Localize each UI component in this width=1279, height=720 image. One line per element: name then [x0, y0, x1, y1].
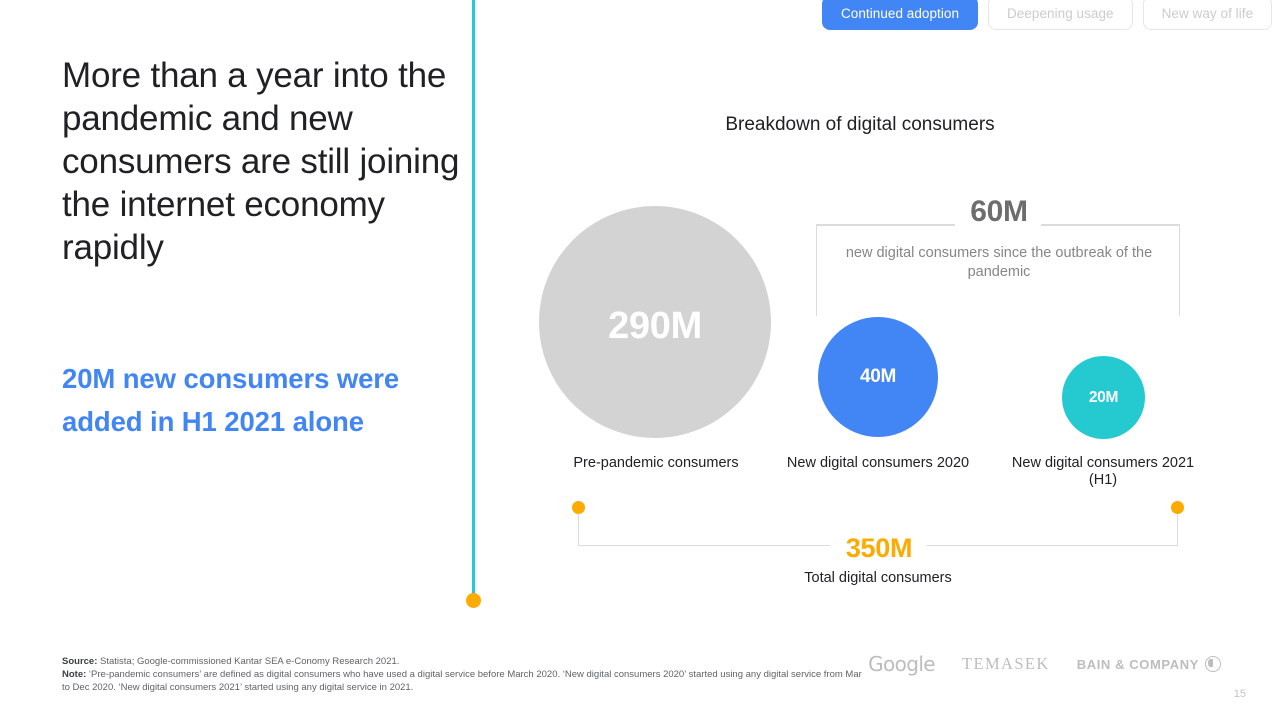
- bracket-350m-value: 350M: [579, 533, 1179, 564]
- bain-mark-icon: [1205, 656, 1221, 672]
- chart-title: Breakdown of digital consumers: [540, 114, 1180, 136]
- tab-continued-adoption[interactable]: Continued adoption: [822, 0, 978, 30]
- bracket-350m-dot-left-icon: [572, 501, 585, 514]
- bubble-pre-pandemic-value: 290M: [608, 305, 702, 348]
- footnote-note-text: ‘Pre-pandemic consumers’ are defined as …: [62, 669, 862, 693]
- bracket-350m-dot-right-icon: [1171, 501, 1184, 514]
- divider-dot-icon: [466, 593, 481, 608]
- page-number: 15: [1234, 688, 1246, 700]
- footnote-note-label: Note:: [62, 669, 86, 680]
- bubble-new-2020: 40M: [818, 317, 938, 437]
- temasek-logo: TEMASEK: [962, 654, 1050, 674]
- bubble-pre-pandemic: 290M: [539, 206, 771, 438]
- bain-logo: BAIN & COMPANY: [1077, 656, 1221, 672]
- bain-logo-text: BAIN & COMPANY: [1077, 657, 1199, 672]
- bracket-60m: 60M new digital consumers since the outb…: [816, 224, 1180, 316]
- tab-deepening-usage[interactable]: Deepening usage: [988, 0, 1133, 30]
- vertical-divider: [472, 0, 475, 595]
- slide: Continued adoption Deepening usage New w…: [0, 0, 1279, 720]
- footnote: Source: Statista; Google-commissioned Ka…: [62, 655, 862, 694]
- bubble-new-2020-value: 40M: [860, 366, 896, 388]
- bubble-label-new-2021: New digital consumers 2021 (H1): [1003, 455, 1203, 488]
- footnote-source-label: Source:: [62, 656, 97, 667]
- bubble-label-pre-pandemic: Pre-pandemic consumers: [556, 455, 756, 472]
- bubble-label-new-2020: New digital consumers 2020: [778, 455, 978, 472]
- page-title: More than a year into the pandemic and n…: [62, 54, 462, 269]
- bracket-60m-caption: new digital consumers since the outbreak…: [817, 244, 1181, 282]
- page-subtitle: 20M new consumers were added in H1 2021 …: [62, 357, 462, 443]
- bracket-60m-value: 60M: [817, 195, 1181, 229]
- logo-bar: Google TEMASEK BAIN & COMPANY: [868, 652, 1221, 676]
- footnote-source: Source: Statista; Google-commissioned Ka…: [62, 655, 862, 668]
- footnote-note: Note: ‘Pre-pandemic consumers’ are defin…: [62, 668, 862, 694]
- bubble-new-2021-value: 20M: [1089, 389, 1118, 407]
- tab-bar: Continued adoption Deepening usage New w…: [822, 0, 1272, 30]
- bracket-350m: 350M: [578, 507, 1178, 546]
- bubble-new-2021: 20M: [1062, 356, 1145, 439]
- google-logo: Google: [868, 652, 935, 676]
- footnote-source-text: Statista; Google-commissioned Kantar SEA…: [97, 656, 399, 667]
- tab-new-way-of-life[interactable]: New way of life: [1143, 0, 1273, 30]
- bracket-350m-caption: Total digital consumers: [578, 570, 1178, 586]
